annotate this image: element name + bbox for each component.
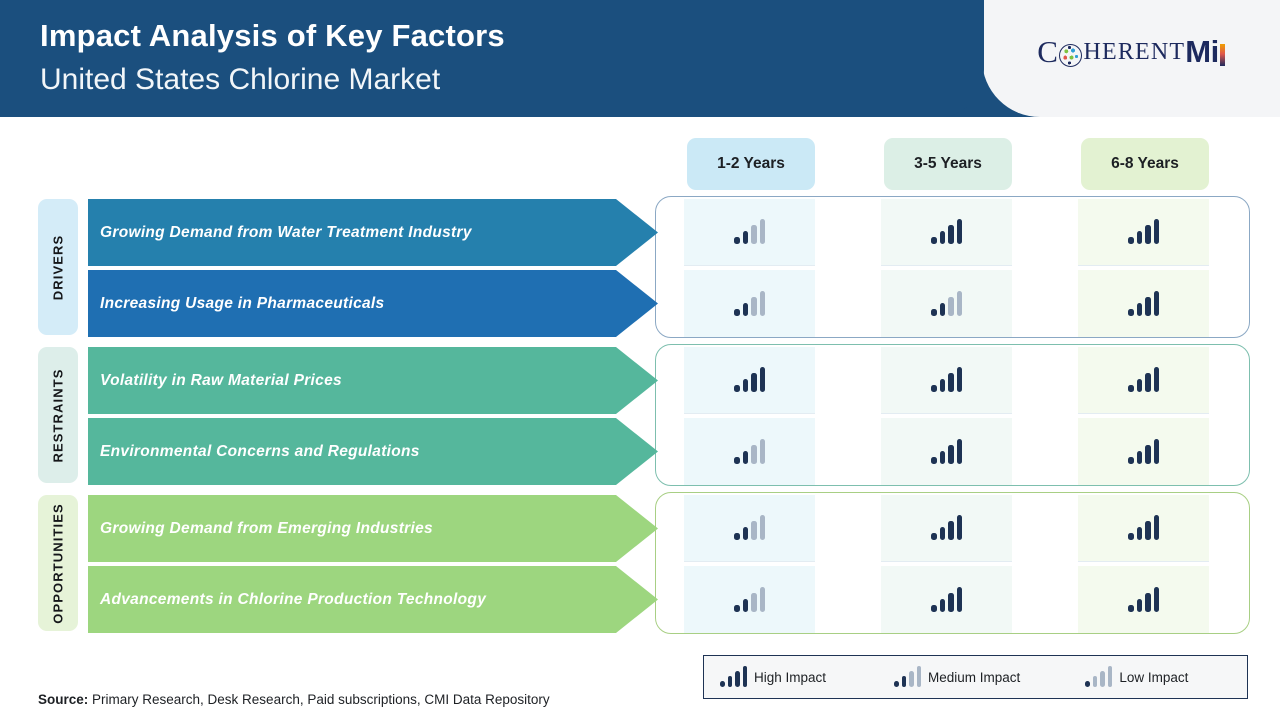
logo-letter-c: C xyxy=(1037,34,1058,70)
legend-label: Low Impact xyxy=(1119,670,1188,685)
table-row: Growing Demand from Emerging Industries xyxy=(0,495,1280,562)
source-label: Source: xyxy=(38,692,88,707)
impact-cell xyxy=(684,566,815,633)
factor-arrow[interactable]: Growing Demand from Water Treatment Indu… xyxy=(88,199,658,266)
impact-bars-icon xyxy=(1128,368,1159,392)
table-row: Increasing Usage in Pharmaceuticals xyxy=(0,270,1280,337)
impact-bars-icon xyxy=(734,440,765,464)
impact-cell xyxy=(881,270,1012,337)
table-row: Volatility in Raw Material Prices xyxy=(0,347,1280,414)
impact-bars-icon xyxy=(931,368,962,392)
impact-cell xyxy=(881,495,1012,562)
legend-label: Medium Impact xyxy=(928,670,1020,685)
impact-cell xyxy=(684,199,815,266)
impact-bars-icon xyxy=(1128,440,1159,464)
impact-cell xyxy=(1078,418,1209,485)
impact-bars-icon xyxy=(931,516,962,540)
impact-bars-icon xyxy=(734,292,765,316)
legend: High Impact Medium Impact Low Impact xyxy=(703,655,1248,699)
source-note: Source: Primary Research, Desk Research,… xyxy=(38,692,550,707)
impact-bars-icon xyxy=(931,220,962,244)
group-opportunities: OPPORTUNITIES Growing Demand from Emergi… xyxy=(0,492,1280,634)
legend-label: High Impact xyxy=(754,670,826,685)
impact-cell xyxy=(1078,495,1209,562)
factor-arrow[interactable]: Growing Demand from Emerging Industries xyxy=(88,495,658,562)
legend-item-high: High Impact xyxy=(720,667,826,687)
impact-cell xyxy=(881,418,1012,485)
impact-cell xyxy=(881,199,1012,266)
table-row: Growing Demand from Water Treatment Indu… xyxy=(0,199,1280,266)
impact-bars-icon xyxy=(1085,667,1112,687)
impact-cell xyxy=(881,566,1012,633)
logo-word-herent: HERENT xyxy=(1083,39,1185,66)
impact-bars-icon xyxy=(894,667,921,687)
factor-arrow[interactable]: Advancements in Chlorine Production Tech… xyxy=(88,566,658,633)
page-title: Impact Analysis of Key Factors xyxy=(40,14,505,58)
header-title-block: Impact Analysis of Key Factors United St… xyxy=(40,14,505,102)
group-restraints: RESTRAINTS Volatility in Raw Material Pr… xyxy=(0,344,1280,486)
impact-cell xyxy=(684,495,815,562)
legend-item-low: Low Impact xyxy=(1085,667,1188,687)
table-row: Advancements in Chlorine Production Tech… xyxy=(0,566,1280,633)
impact-cell xyxy=(1078,199,1209,266)
column-header-6-8-years: 6-8 Years xyxy=(1081,138,1209,190)
impact-bars-icon xyxy=(734,368,765,392)
impact-bars-icon xyxy=(734,516,765,540)
impact-cell xyxy=(1078,347,1209,414)
factor-arrow[interactable]: Increasing Usage in Pharmaceuticals xyxy=(88,270,658,337)
logo-accent-bar xyxy=(1220,44,1225,66)
factor-label: Growing Demand from Emerging Industries xyxy=(100,520,433,538)
globe-icon xyxy=(1059,44,1082,67)
logo-word-mi: Mi xyxy=(1185,34,1218,70)
page-subtitle: United States Chlorine Market xyxy=(40,58,505,102)
page-header: Impact Analysis of Key Factors United St… xyxy=(0,0,1280,117)
factor-arrow[interactable]: Volatility in Raw Material Prices xyxy=(88,347,658,414)
factor-label: Growing Demand from Water Treatment Indu… xyxy=(100,224,472,242)
factor-arrow[interactable]: Environmental Concerns and Regulations xyxy=(88,418,658,485)
logo-panel: C HERENT Mi xyxy=(982,0,1280,117)
impact-bars-icon xyxy=(1128,588,1159,612)
impact-bars-icon xyxy=(734,588,765,612)
factor-label: Increasing Usage in Pharmaceuticals xyxy=(100,295,384,313)
impact-bars-icon xyxy=(931,440,962,464)
factor-label: Advancements in Chlorine Production Tech… xyxy=(100,591,486,609)
impact-cell xyxy=(684,418,815,485)
impact-cell xyxy=(684,270,815,337)
impact-bars-icon xyxy=(1128,220,1159,244)
impact-bars-icon xyxy=(1128,292,1159,316)
timeframe-header-row: 1-2 Years 3-5 Years 6-8 Years xyxy=(0,138,1280,190)
impact-bars-icon xyxy=(734,220,765,244)
impact-bars-icon xyxy=(931,588,962,612)
impact-bars-icon xyxy=(720,667,747,687)
factor-label: Volatility in Raw Material Prices xyxy=(100,372,342,390)
impact-bars-icon xyxy=(1128,516,1159,540)
legend-item-medium: Medium Impact xyxy=(894,667,1020,687)
source-text: Primary Research, Desk Research, Paid su… xyxy=(88,692,549,707)
impact-cell xyxy=(684,347,815,414)
column-header-1-2-years: 1-2 Years xyxy=(687,138,815,190)
impact-cell xyxy=(1078,270,1209,337)
column-header-3-5-years: 3-5 Years xyxy=(884,138,1012,190)
table-row: Environmental Concerns and Regulations xyxy=(0,418,1280,485)
factor-label: Environmental Concerns and Regulations xyxy=(100,443,420,461)
impact-bars-icon xyxy=(931,292,962,316)
group-drivers: DRIVERS Growing Demand from Water Treatm… xyxy=(0,196,1280,338)
brand-logo[interactable]: C HERENT Mi xyxy=(982,34,1280,70)
impact-cell xyxy=(881,347,1012,414)
impact-cell xyxy=(1078,566,1209,633)
